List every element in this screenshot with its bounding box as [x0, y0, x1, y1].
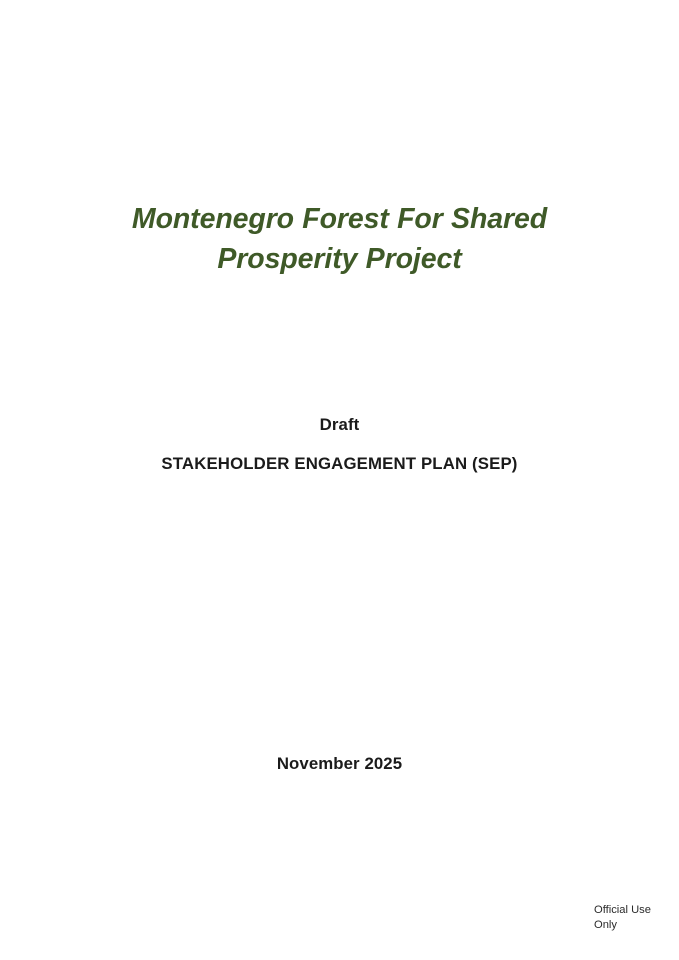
subtitle-block: Draft STAKEHOLDER ENGAGEMENT PLAN (SEP)	[0, 405, 679, 483]
document-date: November 2025	[0, 752, 679, 776]
plan-title: STAKEHOLDER ENGAGEMENT PLAN (SEP)	[0, 444, 679, 483]
classification-label: Official Use Only	[594, 903, 666, 933]
classification-stamp: Official Use Only	[594, 903, 666, 933]
draft-status-label: Draft	[0, 405, 679, 444]
page-title: Montenegro Forest For Shared Prosperity …	[89, 199, 590, 279]
date-block: November 2025	[0, 752, 679, 776]
document-cover-page: Montenegro Forest For Shared Prosperity …	[0, 0, 679, 960]
title-block: Montenegro Forest For Shared Prosperity …	[89, 199, 590, 279]
